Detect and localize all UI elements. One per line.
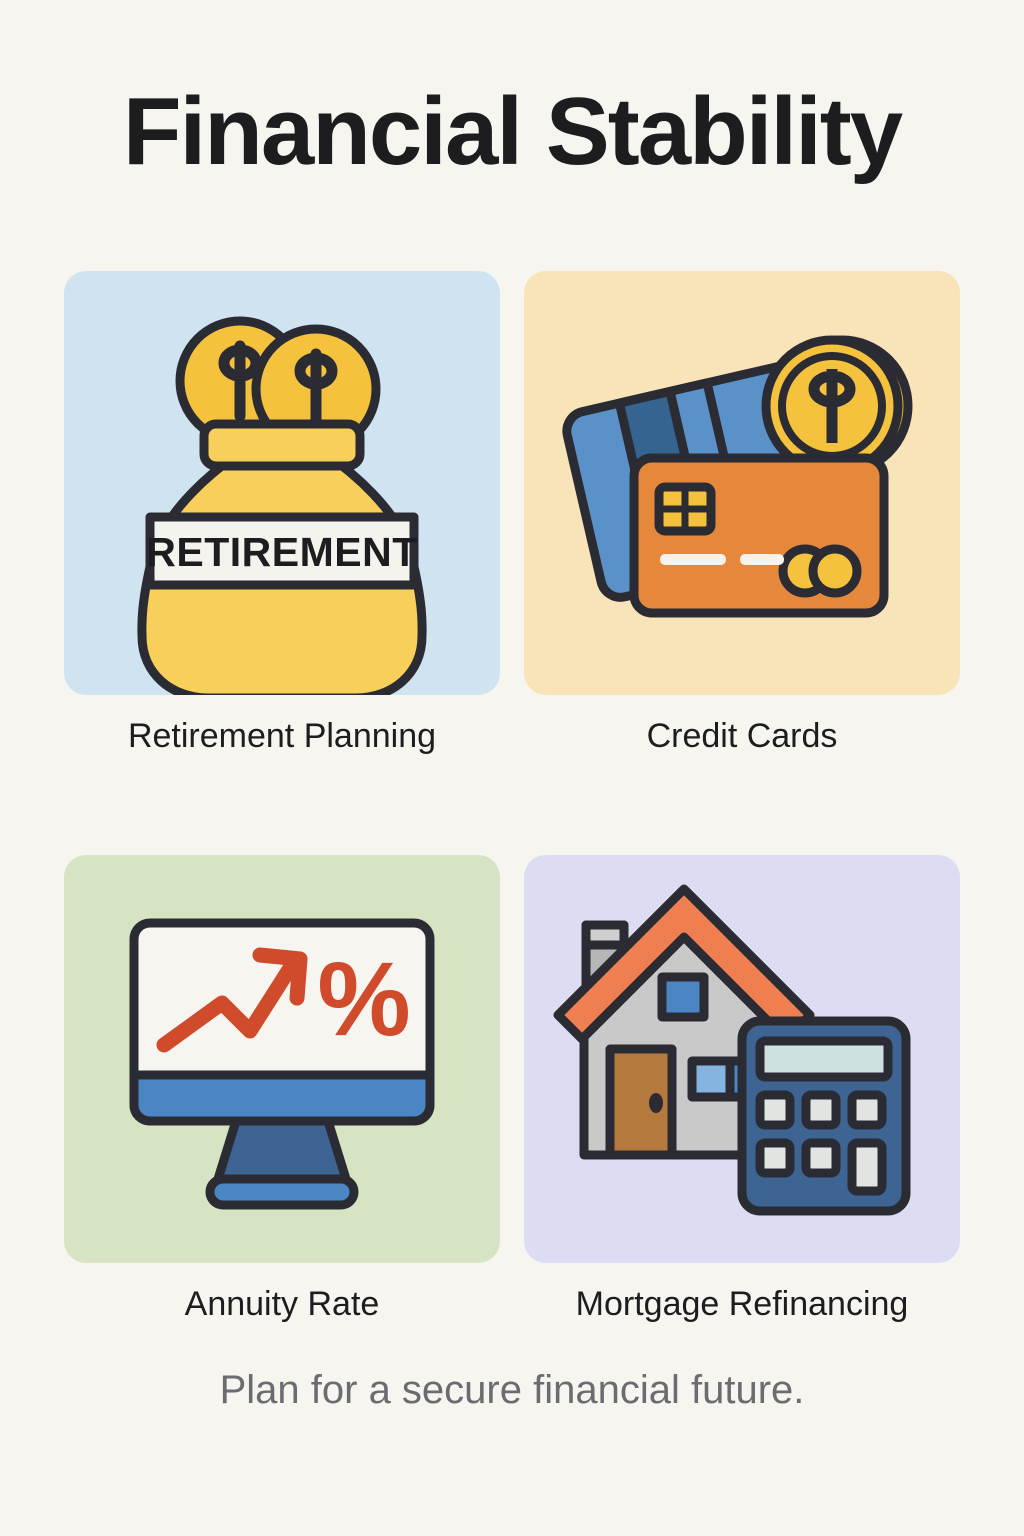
card-retirement-planning[interactable]: RETIREMENT Retirement Planning bbox=[64, 271, 500, 756]
page-title: Financial Stability bbox=[0, 82, 1024, 183]
footer-tagline: Plan for a secure financial future. bbox=[0, 1368, 1024, 1413]
card-tile: % bbox=[64, 855, 500, 1263]
card-tile bbox=[524, 855, 960, 1263]
money-bag-icon: RETIREMENT bbox=[64, 271, 500, 695]
card-label: Mortgage Refinancing bbox=[524, 1285, 960, 1324]
monitor-growth-percent-icon: % bbox=[64, 855, 500, 1263]
card-label: Credit Cards bbox=[524, 717, 960, 756]
card-label: Annuity Rate bbox=[64, 1285, 500, 1324]
card-annuity-rate[interactable]: % Annuity Rate bbox=[64, 855, 500, 1324]
card-tile bbox=[524, 271, 960, 695]
credit-cards-icon bbox=[524, 271, 960, 695]
infographic-poster: Financial Stability RETIREMENT bbox=[0, 0, 1024, 1536]
retirement-label-text: RETIREMENT bbox=[146, 529, 418, 575]
card-grid: RETIREMENT Retirement Planning bbox=[64, 271, 960, 1324]
card-tile: RETIREMENT bbox=[64, 271, 500, 695]
card-mortgage-refinancing[interactable]: Mortgage Refinancing bbox=[524, 855, 960, 1324]
card-credit-cards[interactable]: Credit Cards bbox=[524, 271, 960, 756]
house-calculator-icon bbox=[524, 855, 960, 1263]
percent-symbol: % bbox=[317, 941, 410, 1058]
card-label: Retirement Planning bbox=[64, 717, 500, 756]
